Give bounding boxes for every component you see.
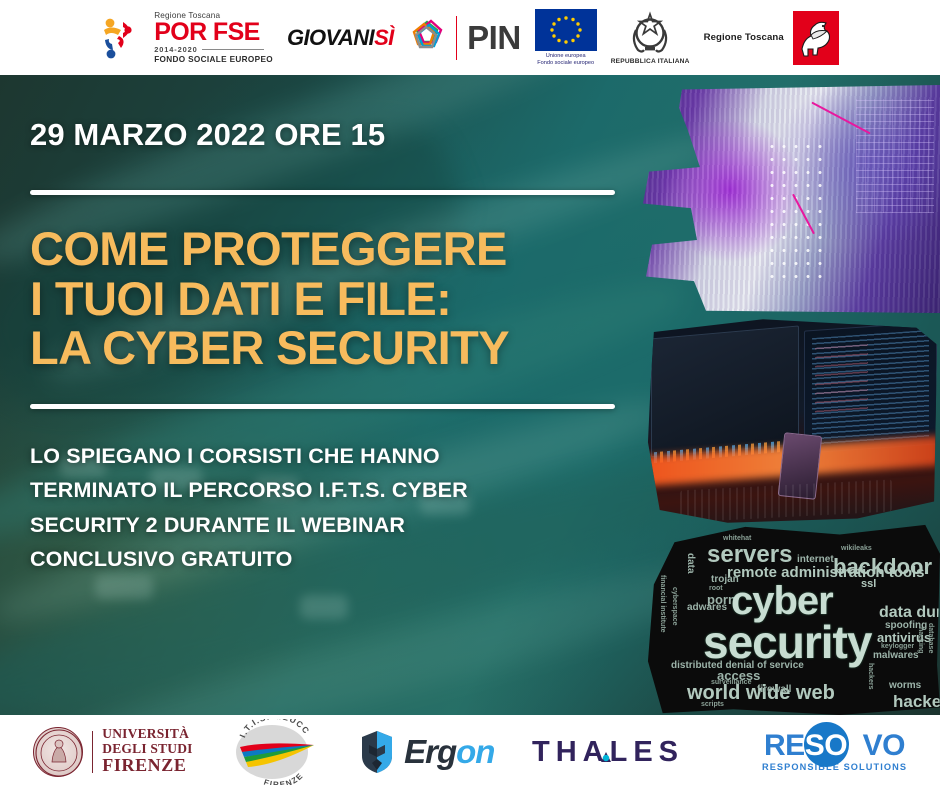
por-fse-name: POR FSE <box>154 21 273 45</box>
wc-word: hackers <box>893 693 940 710</box>
thales-wordmark: THALES <box>532 732 724 772</box>
svg-text:THALES: THALES <box>532 736 684 768</box>
wc-word: database <box>927 623 934 653</box>
event-date-time: 29 MARZO 2022 ORE 15 <box>30 117 630 153</box>
body-line-4: CONCLUSIVO GRATUITO <box>30 542 595 576</box>
wc-word: firewall <box>757 685 791 695</box>
por-fse-years-row: 2014-2020 <box>154 45 273 54</box>
por-fse-rule <box>202 49 264 50</box>
poster-stage: whitehat servers internet wikileaks back… <box>0 75 940 715</box>
pegasus-icon <box>793 11 839 65</box>
wc-word: data dump <box>879 605 940 621</box>
headline-line-3: LA CYBER SECURITY <box>30 323 630 373</box>
headline-line-2: I TUOI DATI E FILE: <box>30 274 630 324</box>
wc-word: adwares <box>687 603 727 613</box>
logo-universita-firenze: UNIVERSITÀ DEGLI STUDI FIRENZE <box>33 727 193 777</box>
wc-word-primary: CYBER <box>731 581 833 621</box>
logo-giovanisi: GIOVANISÌ <box>287 25 394 51</box>
logo-ergon: Ergon <box>360 730 494 774</box>
wc-word: surveillance <box>711 679 751 686</box>
logo-regione-toscana: Regione Toscana <box>704 11 839 65</box>
digital-hand-circuit-photo <box>640 85 940 313</box>
wc-word: root <box>709 585 723 592</box>
por-fse-years: 2014-2020 <box>154 45 197 54</box>
logo-por-fse: Regione Toscana POR FSE 2014-2020 FONDO … <box>101 11 273 65</box>
monitor-right <box>804 321 937 453</box>
wc-word: financial institute <box>659 575 666 633</box>
wc-word: SSL <box>861 579 876 590</box>
wc-word: cyberspace <box>671 587 678 626</box>
monitor-left <box>651 326 799 458</box>
pin-divider <box>456 16 458 60</box>
body-line-2: TERMINATO IL PERCORSO I.F.T.S. CYBER <box>30 473 595 507</box>
wc-word: hacking <box>917 627 924 653</box>
unifi-seal-icon <box>33 727 83 777</box>
background-keycap <box>300 595 348 619</box>
word-cloud: whitehat servers internet wikileaks back… <box>645 523 940 715</box>
wc-word: malwares <box>873 651 919 661</box>
logo-resolvo: RESOLVO RESPONSIBLE SOLUTIONS <box>762 731 907 772</box>
por-fse-fund-label: FONDO SOCIALE EUROPEO <box>154 55 273 64</box>
resolvo-part-3: VO <box>863 729 905 762</box>
divider-bottom <box>30 404 615 409</box>
unifi-line-3: FIRENZE <box>102 756 192 775</box>
logo-itis-meucci: I.T.I.S. MEUCCI FIRENZE <box>230 719 322 785</box>
divider-top <box>30 190 615 195</box>
multicolor-star-icon <box>408 18 446 58</box>
unifi-line-2: DEGLI STUDI <box>102 742 192 756</box>
wc-word-primary: SECURITY <box>703 619 871 665</box>
giovanisi-prefix: GIOVANI <box>287 25 374 50</box>
headline-line-1: COME PROTEGGERE <box>30 224 630 274</box>
page-title: COME PROTEGGERE I TUOI DATI E FILE: LA C… <box>30 224 630 373</box>
ergon-helmet-icon <box>360 730 394 774</box>
cyber-security-word-cloud-photo: whitehat servers internet wikileaks back… <box>645 523 940 715</box>
webinar-poster: Regione Toscana POR FSE 2014-2020 FONDO … <box>0 0 940 788</box>
code-lines-accent <box>816 344 868 420</box>
body-line-1: LO SPIEGANO I CORSISTI CHE HANNO <box>30 439 595 473</box>
wc-word: hackers <box>867 663 874 689</box>
unifi-divider <box>92 731 93 773</box>
pin-label: PIN <box>467 19 521 57</box>
keyboard <box>680 479 892 522</box>
background-keycap <box>95 575 153 599</box>
hand-dot-matrix <box>766 140 826 281</box>
wc-word: wikileaks <box>841 545 872 552</box>
ergon-suffix: on <box>456 733 494 770</box>
regione-toscana-label: Regione Toscana <box>704 32 784 43</box>
hand-grid-overlay <box>856 99 934 213</box>
giovanisi-suffix: SÌ <box>374 25 394 50</box>
poster-text-column: 29 MARZO 2022 ORE 15 COME PROTEGGERE I T… <box>30 75 630 576</box>
svg-text:I.T.I.S. MEUCCI: I.T.I.S. MEUCCI <box>230 719 312 739</box>
logo-pin: PIN <box>408 16 521 60</box>
eu-line-1: Unione europea <box>537 53 594 60</box>
bottom-partner-bar: UNIVERSITÀ DEGLI STUDI FIRENZE I.T.I.S. … <box>0 715 940 788</box>
wc-word: worms <box>889 681 921 691</box>
desk-monitors-code-photo <box>645 315 940 527</box>
eu-flag-icon <box>535 9 597 51</box>
wc-word: scripts <box>701 701 724 708</box>
logo-thales: THALES <box>532 732 724 772</box>
repubblica-label: REPUBBLICA ITALIANA <box>611 58 690 65</box>
wc-word: data <box>685 553 695 574</box>
resolvo-part-1: RE <box>764 729 805 762</box>
top-sponsor-bar: Regione Toscana POR FSE 2014-2020 FONDO … <box>0 0 940 75</box>
logo-european-union: Unione europea Fondo sociale europeo <box>535 9 597 67</box>
eu-line-2: Fondo sociale europeo <box>537 60 594 67</box>
wc-word: keylogger <box>881 643 914 650</box>
wc-word: remote administration tools <box>727 565 925 580</box>
poster-description: LO SPIEGANO I CORSISTI CHE HANNO TERMINA… <box>30 439 595 577</box>
resolvo-part-2: SOL <box>805 729 863 762</box>
ergon-prefix: Erg <box>404 733 456 770</box>
logo-repubblica-italiana: REPUBBLICA ITALIANA <box>611 10 690 65</box>
unifi-line-1: UNIVERSITÀ <box>102 727 192 741</box>
italy-emblem-icon <box>628 10 672 56</box>
svg-text:FIRENZE: FIRENZE <box>263 770 306 784</box>
por-fse-people-icon <box>101 14 147 62</box>
body-line-3: SECURITY 2 DURANTE IL WEBINAR <box>30 508 595 542</box>
